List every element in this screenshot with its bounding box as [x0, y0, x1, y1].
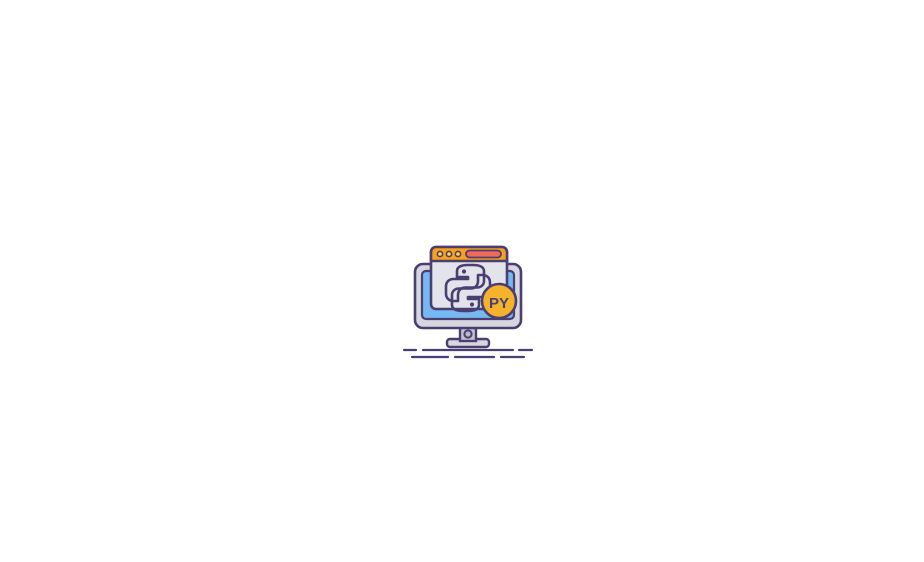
- diagram-canvas: PY: [0, 0, 924, 562]
- py-badge-text: PY: [489, 295, 509, 312]
- python-desktop-icon: PY: [398, 238, 538, 366]
